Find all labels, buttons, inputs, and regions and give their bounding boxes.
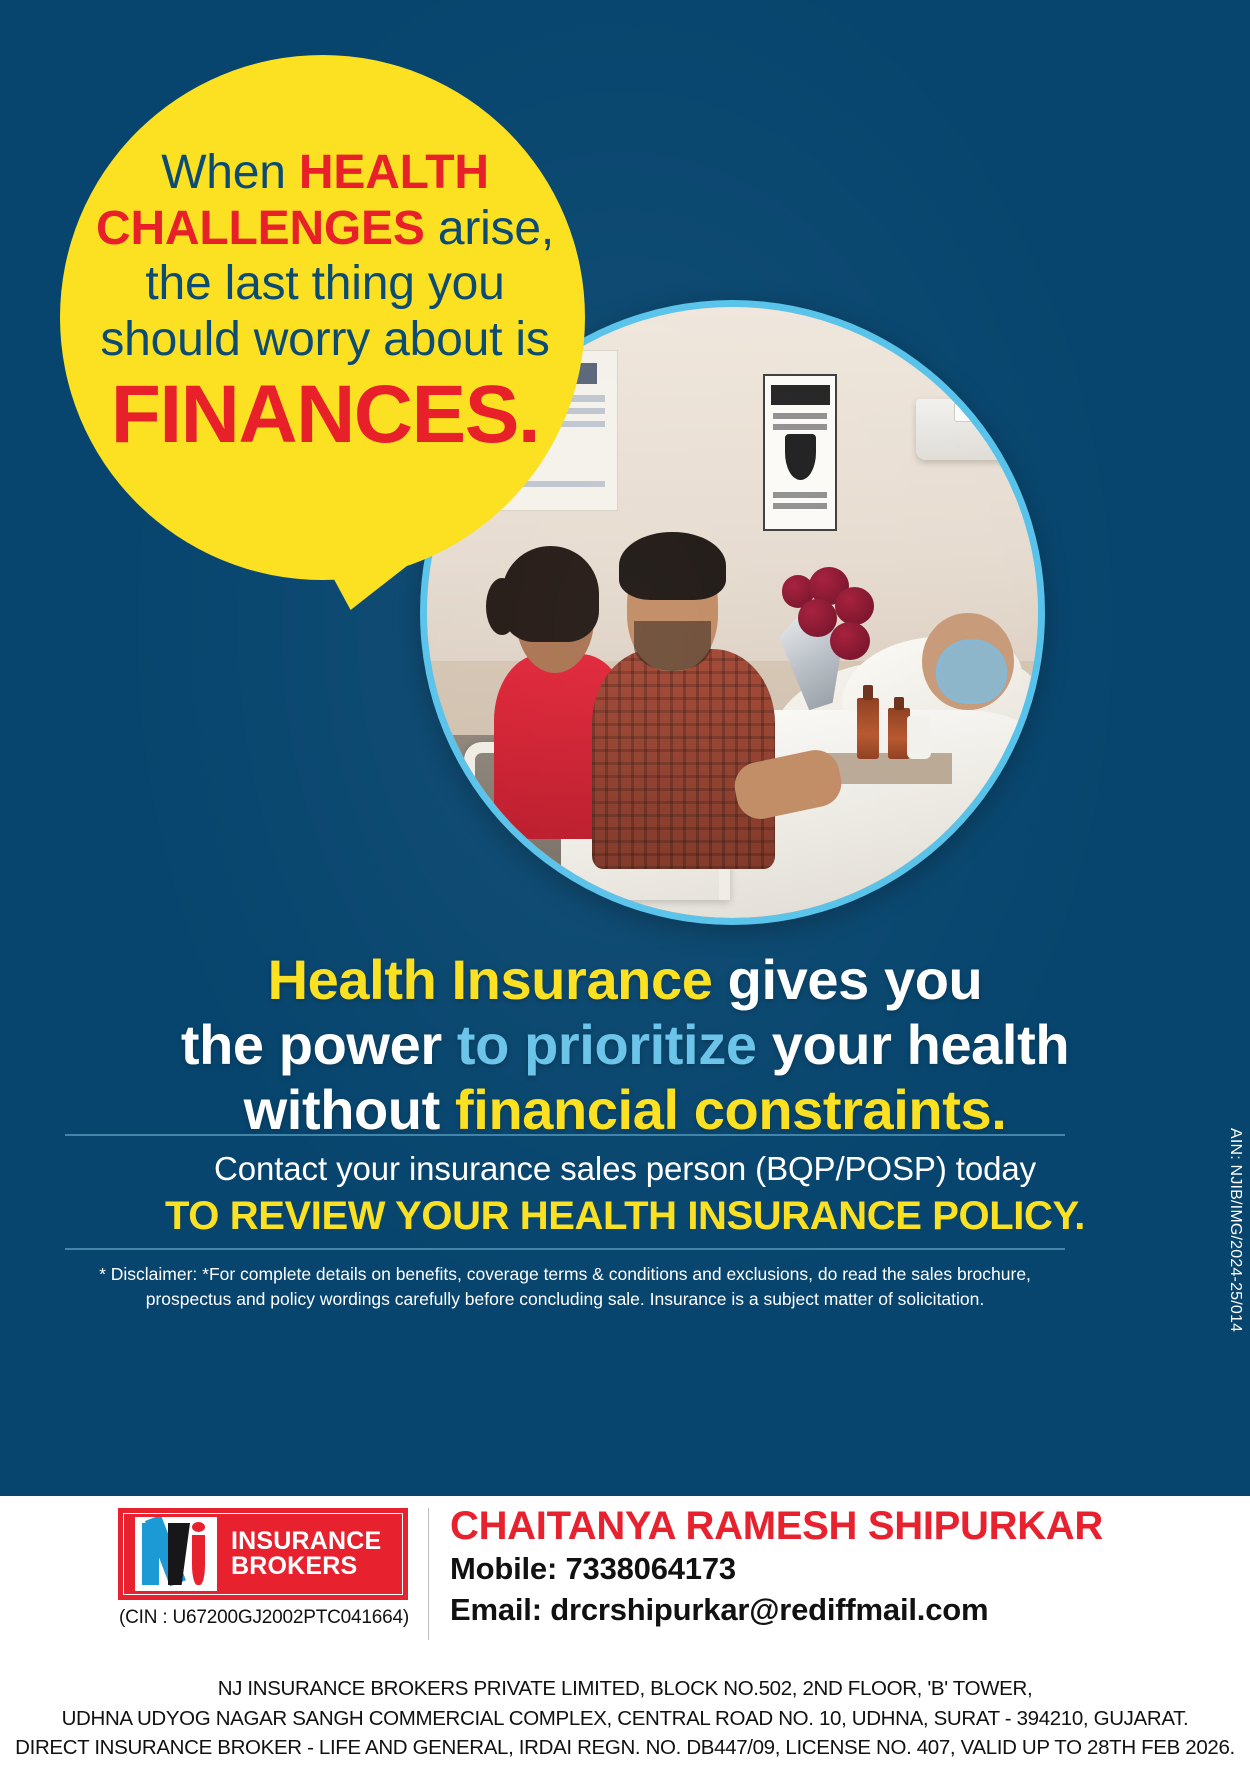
notice-text-line <box>773 424 826 430</box>
rose-bouquet <box>763 564 879 711</box>
bubble-line1-pre: When <box>161 146 299 199</box>
tagline-your-health: your health <box>757 1013 1070 1076</box>
agent-name: CHAITANYA RAMESH SHIPURKAR <box>450 1504 1210 1549</box>
cta-block: Contact your insurance sales person (BQP… <box>0 1148 1250 1241</box>
j-red-stroke <box>192 1535 205 1585</box>
address-line-3: DIRECT INSURANCE BROKER - LIFE AND GENER… <box>0 1733 1250 1763</box>
divider-top <box>65 1134 1065 1136</box>
disclaimer-text: * Disclaimer: *For complete details on b… <box>85 1262 1045 1312</box>
tagline-gives-you: gives you <box>712 948 982 1011</box>
bedside-cup <box>907 716 931 759</box>
footer-top: INSURANCE BROKERS (CIN : U67200GJ2002PTC… <box>0 1496 1250 1682</box>
bubble-line3: the last thing you <box>145 257 504 310</box>
bubble-challenges-highlight: CHALLENGES <box>96 202 425 255</box>
tagline-line-1: Health Insurance gives you <box>0 948 1250 1013</box>
rose <box>830 622 869 660</box>
man-plaid-shirt <box>592 649 775 869</box>
company-address: NJ INSURANCE BROKERS PRIVATE LIMITED, BL… <box>0 1674 1250 1763</box>
j-dot <box>192 1522 205 1532</box>
logo-word-brokers: BROKERS <box>231 1552 357 1580</box>
footer-vertical-divider <box>428 1508 429 1640</box>
notice-text-line <box>773 492 826 498</box>
address-line-1: NJ INSURANCE BROKERS PRIVATE LIMITED, BL… <box>0 1674 1250 1704</box>
tagline-block: Health Insurance gives you the power to … <box>0 948 1250 1143</box>
wall-power-socket <box>954 389 1005 422</box>
nj-logo-wordmark: INSURANCE BROKERS <box>231 1529 381 1580</box>
tagline-health-insurance: Health Insurance <box>268 948 713 1011</box>
divider-bottom <box>65 1248 1065 1250</box>
nj-logo-block: INSURANCE BROKERS (CIN : U67200GJ2002PTC… <box>118 1508 410 1629</box>
speech-bubble-text: When HEALTH CHALLENGES arise, the last t… <box>70 145 580 456</box>
tagline-to-prioritize: to prioritize <box>457 1013 757 1076</box>
man-visitor <box>592 515 775 869</box>
poster-canvas: When HEALTH CHALLENGES arise, the last t… <box>0 0 1250 1496</box>
tagline-financial-constraints: financial constraints. <box>455 1078 1006 1141</box>
shield-icon <box>785 434 816 480</box>
nj-monogram-icon <box>135 1517 217 1591</box>
man-beard <box>634 621 711 671</box>
footer: INSURANCE BROKERS (CIN : U67200GJ2002PTC… <box>0 1496 1250 1780</box>
agent-mobile[interactable]: Mobile: 7338064173 <box>450 1549 1210 1590</box>
bubble-finances-emphasis: FINANCES. <box>70 374 580 456</box>
tagline-line-2: the power to prioritize your health <box>0 1013 1250 1078</box>
cin-number: (CIN : U67200GJ2002PTC041664) <box>118 1607 410 1629</box>
girl-hair <box>502 546 599 641</box>
address-line-2: UDHNA UDYOG NAGAR SANGH COMMERCIAL COMPL… <box>0 1704 1250 1734</box>
notice-heading-bar <box>771 385 830 405</box>
wall-sign-notice <box>763 374 837 531</box>
rose <box>835 587 874 625</box>
tagline-the-power: the power <box>181 1013 457 1076</box>
oxygen-mask-icon <box>936 639 1007 704</box>
logo-word-insurance: INSURANCE <box>231 1527 381 1555</box>
bubble-health-highlight: HEALTH <box>299 146 489 199</box>
notice-text-line <box>773 503 826 509</box>
poster-root: When HEALTH CHALLENGES arise, the last t… <box>0 0 1250 1780</box>
agent-email[interactable]: Email: drcrshipurkar@rediffmail.com <box>450 1590 1210 1631</box>
tagline-without: without <box>244 1078 455 1141</box>
notice-text-line <box>773 413 826 419</box>
man-hair <box>619 532 725 599</box>
n-black-stroke <box>168 1523 190 1585</box>
agent-contact-block: CHAITANYA RAMESH SHIPURKAR Mobile: 73380… <box>450 1504 1210 1631</box>
bubble-line2-post: arise, <box>425 202 554 255</box>
cta-contact-line: Contact your insurance sales person (BQP… <box>0 1148 1250 1189</box>
cta-review-policy-line: TO REVIEW YOUR HEALTH INSURANCE POLICY. <box>0 1192 1250 1241</box>
ain-code: AIN: NJIB/IMG/2024-25/014 <box>1226 1128 1244 1332</box>
nj-logo-badge: INSURANCE BROKERS <box>118 1508 408 1600</box>
bubble-line4: should worry about is <box>100 313 549 366</box>
